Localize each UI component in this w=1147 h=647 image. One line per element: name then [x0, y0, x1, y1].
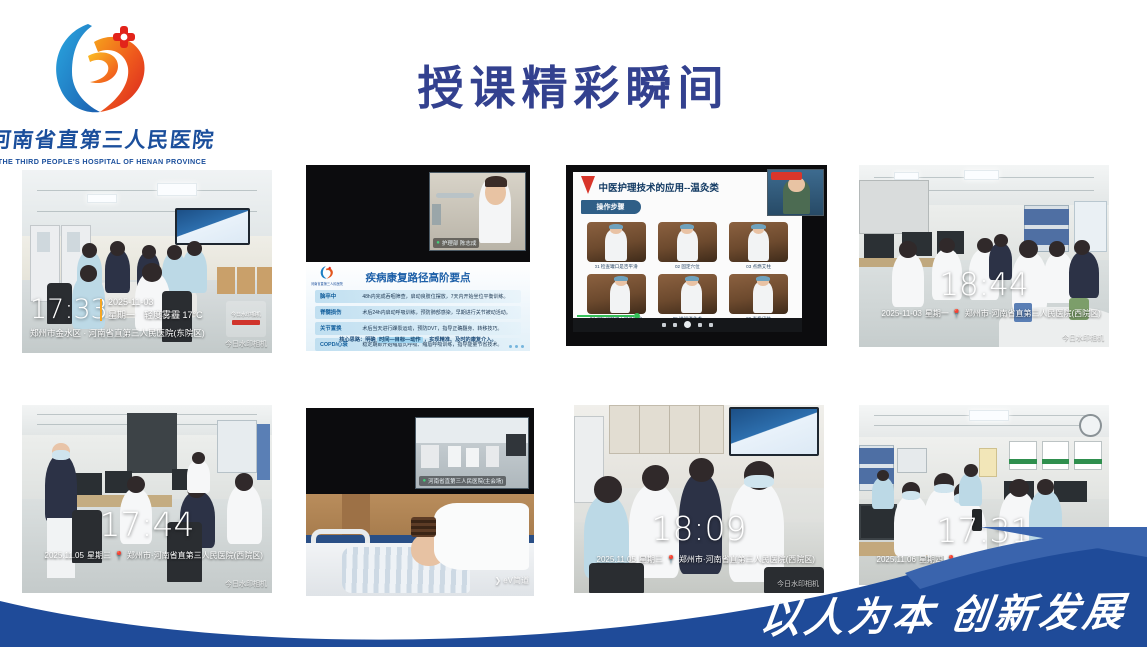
slide-note-highlight: 时间—目标—动作: [377, 337, 423, 343]
slide-row-key: 脑卒中: [315, 292, 362, 300]
slide-note-suffix: ，实现精准、及时的康复介入。: [424, 337, 497, 343]
slide-page: 河南省直第三人民医院 THE THIRD PEOPLE'S HOSPITAL O…: [0, 0, 1147, 647]
photo-3-presenter-pip: [767, 169, 824, 216]
step-item: 03 点燃艾柱: [729, 222, 788, 270]
photo-2-pip-label: ● 护理部 陈志成: [433, 238, 479, 248]
stop-icon[interactable]: [662, 323, 666, 327]
mic-icon: ●: [436, 240, 440, 246]
mic-icon: ●: [422, 478, 426, 484]
slide-row-value: 术后24h内启动呼吸训练，预防肺部感染，早期进行关节被动活动。: [362, 309, 521, 316]
photo-2-pip-name: 护理部 陈志成: [442, 239, 477, 247]
photo-6-pip-name: 河南省直第三人民医院(主会场): [428, 477, 503, 485]
hospital-name-cn: 河南省直第三人民医院: [0, 124, 216, 154]
photo-6-remote-pip: ● 河南省直第三人民医院(主会场): [415, 417, 529, 488]
photo-2-shared-slide: 河南省直第三人民医院 疾病康复路径高阶要点 脑卒中 48h内完成吞咽筛查，启动良…: [306, 262, 530, 351]
fullscreen-icon[interactable]: [709, 323, 713, 327]
slide-row-key: 关节置换: [315, 324, 362, 332]
step-caption: 03 点燃艾柱: [746, 264, 771, 270]
step-item: 02 固定穴位: [658, 222, 717, 270]
step-thumbnail: [658, 274, 717, 314]
slide-row: 脑卒中 48h内完成吞咽筛查，启动良肢位摆放，7天内开始坐位平衡训练。: [315, 290, 521, 303]
step-thumbnail: [587, 222, 646, 262]
photo-6-pip-label: ● 河南省直第三人民医院(主会场): [419, 476, 506, 486]
next-icon[interactable]: [698, 323, 702, 327]
photo-card-3[interactable]: 中医护理技术的应用--温灸类 操作步骤 01 检查罐口是否平滑: [566, 165, 827, 346]
banner-slogan: 以人为本 创新发展: [757, 579, 1131, 645]
slide-row-key: 脊髓损伤: [315, 308, 362, 316]
photo-2-slide-title: 疾病康复路径高阶要点: [306, 270, 530, 285]
step-thumbnail: [587, 274, 646, 314]
play-icon[interactable]: [684, 321, 691, 328]
photo-2-slide-note: 核心思路：明确 时间—目标—动作 ，实现精准、及时的康复介入。: [315, 336, 521, 343]
photo-3-slide-title: 中医护理技术的应用--温灸类: [599, 180, 719, 194]
photo-card-2[interactable]: ● 护理部 陈志成 河南省直第三人民医院: [306, 165, 530, 351]
step-thumbnail: [658, 222, 717, 262]
slide-row-value: 术后当天进行踝泵运动，预防DVT，指导正确翻身、转移技巧。: [362, 325, 521, 332]
slide-page-dots: [509, 345, 524, 348]
photo-3-image: 中医护理技术的应用--温灸类 操作步骤 01 检查罐口是否平滑: [566, 165, 827, 346]
photo-card-4[interactable]: 18:44 2025-11-03 星期一 📍 郑州市·河南省直第三人民医院(西院…: [859, 165, 1109, 347]
photo-2-image: ● 护理部 陈志成 河南省直第三人民医院: [306, 165, 530, 351]
slide-row: 关节置换 术后当天进行踝泵运动，预防DVT，指导正确翻身、转移技巧。: [315, 322, 521, 335]
step-item: 01 检查罐口是否平滑: [587, 222, 646, 270]
photo-2-presenter-pip: ● 护理部 陈志成: [429, 172, 525, 250]
page-header: 河南省直第三人民医院 THE THIRD PEOPLE'S HOSPITAL O…: [0, 0, 1147, 160]
photo-1-image: 17:33 2025-11-03 星期一 轻度雾霾 17°C 郑州市金水区 · …: [22, 170, 272, 353]
video-control-bar[interactable]: [573, 318, 803, 332]
photo-3-slide-tab: 操作步骤: [581, 200, 641, 214]
bottom-banner: 以人为本 创新发展: [0, 527, 1147, 647]
step-caption: 01 检查罐口是否平滑: [595, 264, 638, 270]
prev-icon[interactable]: [673, 323, 677, 327]
photo-4-image: 18:44 2025-11-03 星期一 📍 郑州市·河南省直第三人民医院(西院…: [859, 165, 1109, 347]
step-caption: 02 固定穴位: [675, 264, 700, 270]
red-flag-icon: [581, 176, 595, 194]
photo-card-1[interactable]: 17:33 2025-11-03 星期一 轻度雾霾 17°C 郑州市金水区 · …: [22, 170, 272, 353]
page-title: 授课精彩瞬间: [0, 52, 1147, 118]
photo-3-step-grid: 01 检查罐口是否平滑 02 固定穴位 03 点燃艾: [587, 222, 789, 322]
slide-row-value: 48h内完成吞咽筛查，启动良肢位摆放，7天内开始坐位平衡训练。: [362, 293, 521, 300]
step-thumbnail: [729, 222, 788, 262]
slide-note-prefix: 核心思路：明确: [339, 337, 375, 343]
slide-row: 脊髓损伤 术后24h内启动呼吸训练，预防肺部感染，早期进行关节被动活动。: [315, 306, 521, 319]
step-thumbnail: [729, 274, 788, 314]
video-progress-bar[interactable]: [577, 315, 798, 317]
